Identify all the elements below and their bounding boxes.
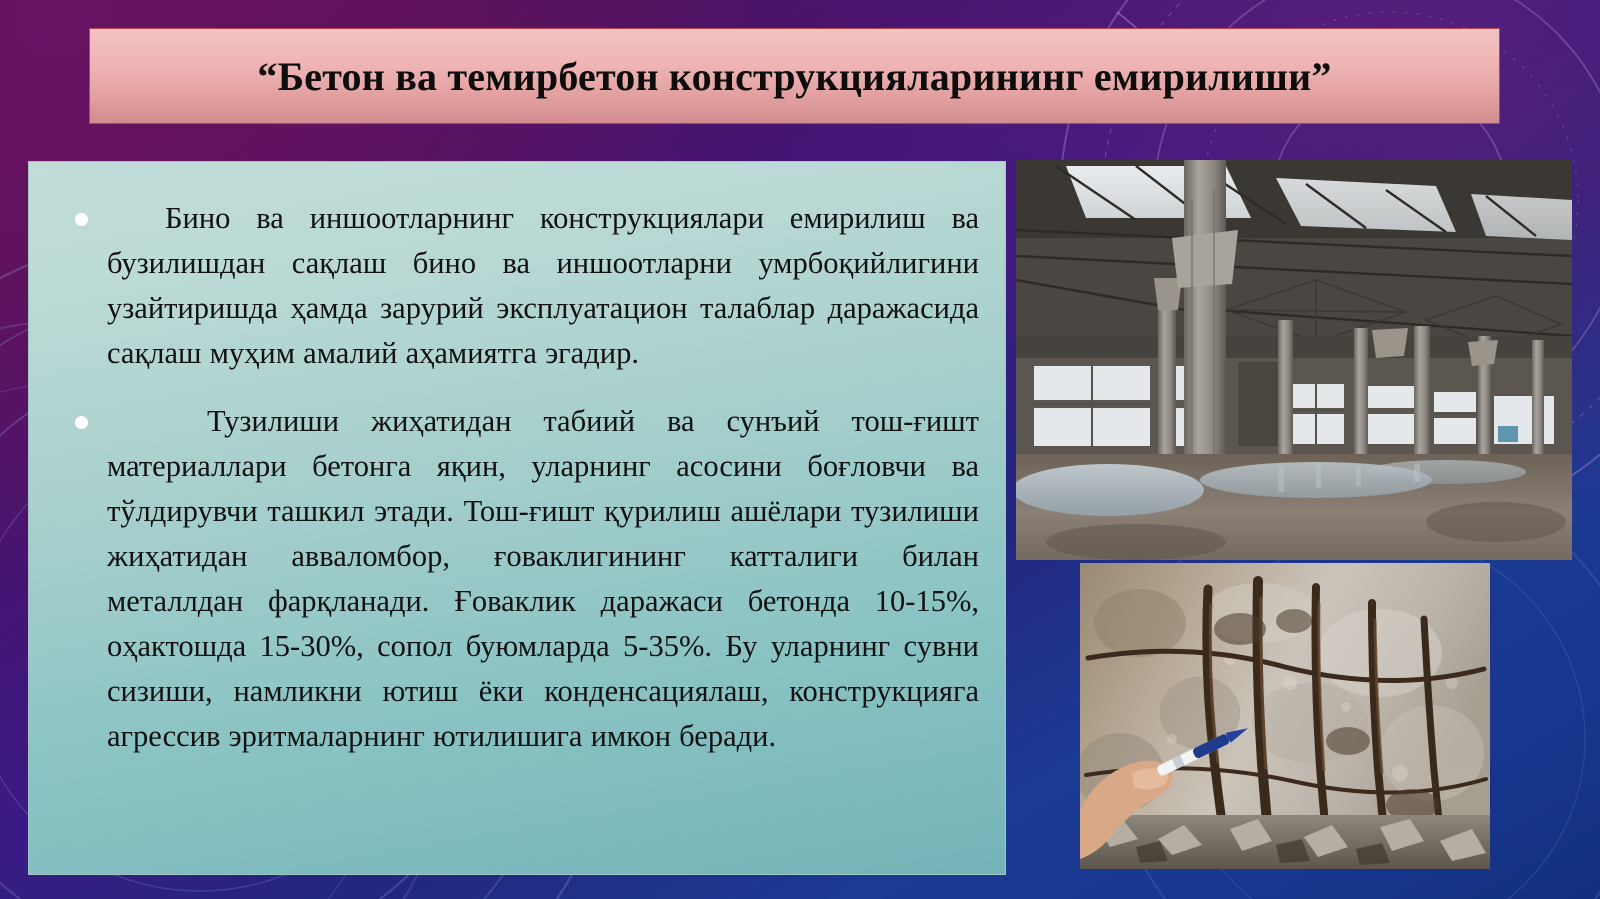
industrial-hall-interior-photo [1016, 160, 1572, 560]
bullet-paragraph-1-text: Бино ва иншоотларнинг конструкциялари ем… [107, 201, 979, 370]
slide-title-box: “Бетон ва темирбетон конструкцияларининг… [89, 28, 1500, 124]
bullet-paragraph-2-text: Тузилиши жиҳатидан табиий ва сунъий тош-… [107, 404, 979, 754]
corroded-rebar-illustration [1080, 563, 1490, 869]
bullet-marker-icon [75, 416, 88, 429]
corroded-rebar-concrete-photo [1080, 563, 1490, 869]
page-title: “Бетон ва темирбетон конструкцияларининг… [257, 53, 1331, 100]
body-text-panel: Бино ва иншоотларнинг конструкциялари ем… [28, 161, 1006, 875]
bullet-marker-icon [75, 213, 88, 226]
industrial-hall-illustration [1016, 160, 1572, 560]
bullet-paragraph-1: Бино ва иншоотларнинг конструкциялари ем… [75, 196, 979, 377]
bullet-paragraph-2: Тузилиши жиҳатидан табиий ва сунъий тош-… [75, 399, 979, 760]
presentation-slide: 21 “Бетон ва темирбетон конструкци [0, 0, 1600, 899]
